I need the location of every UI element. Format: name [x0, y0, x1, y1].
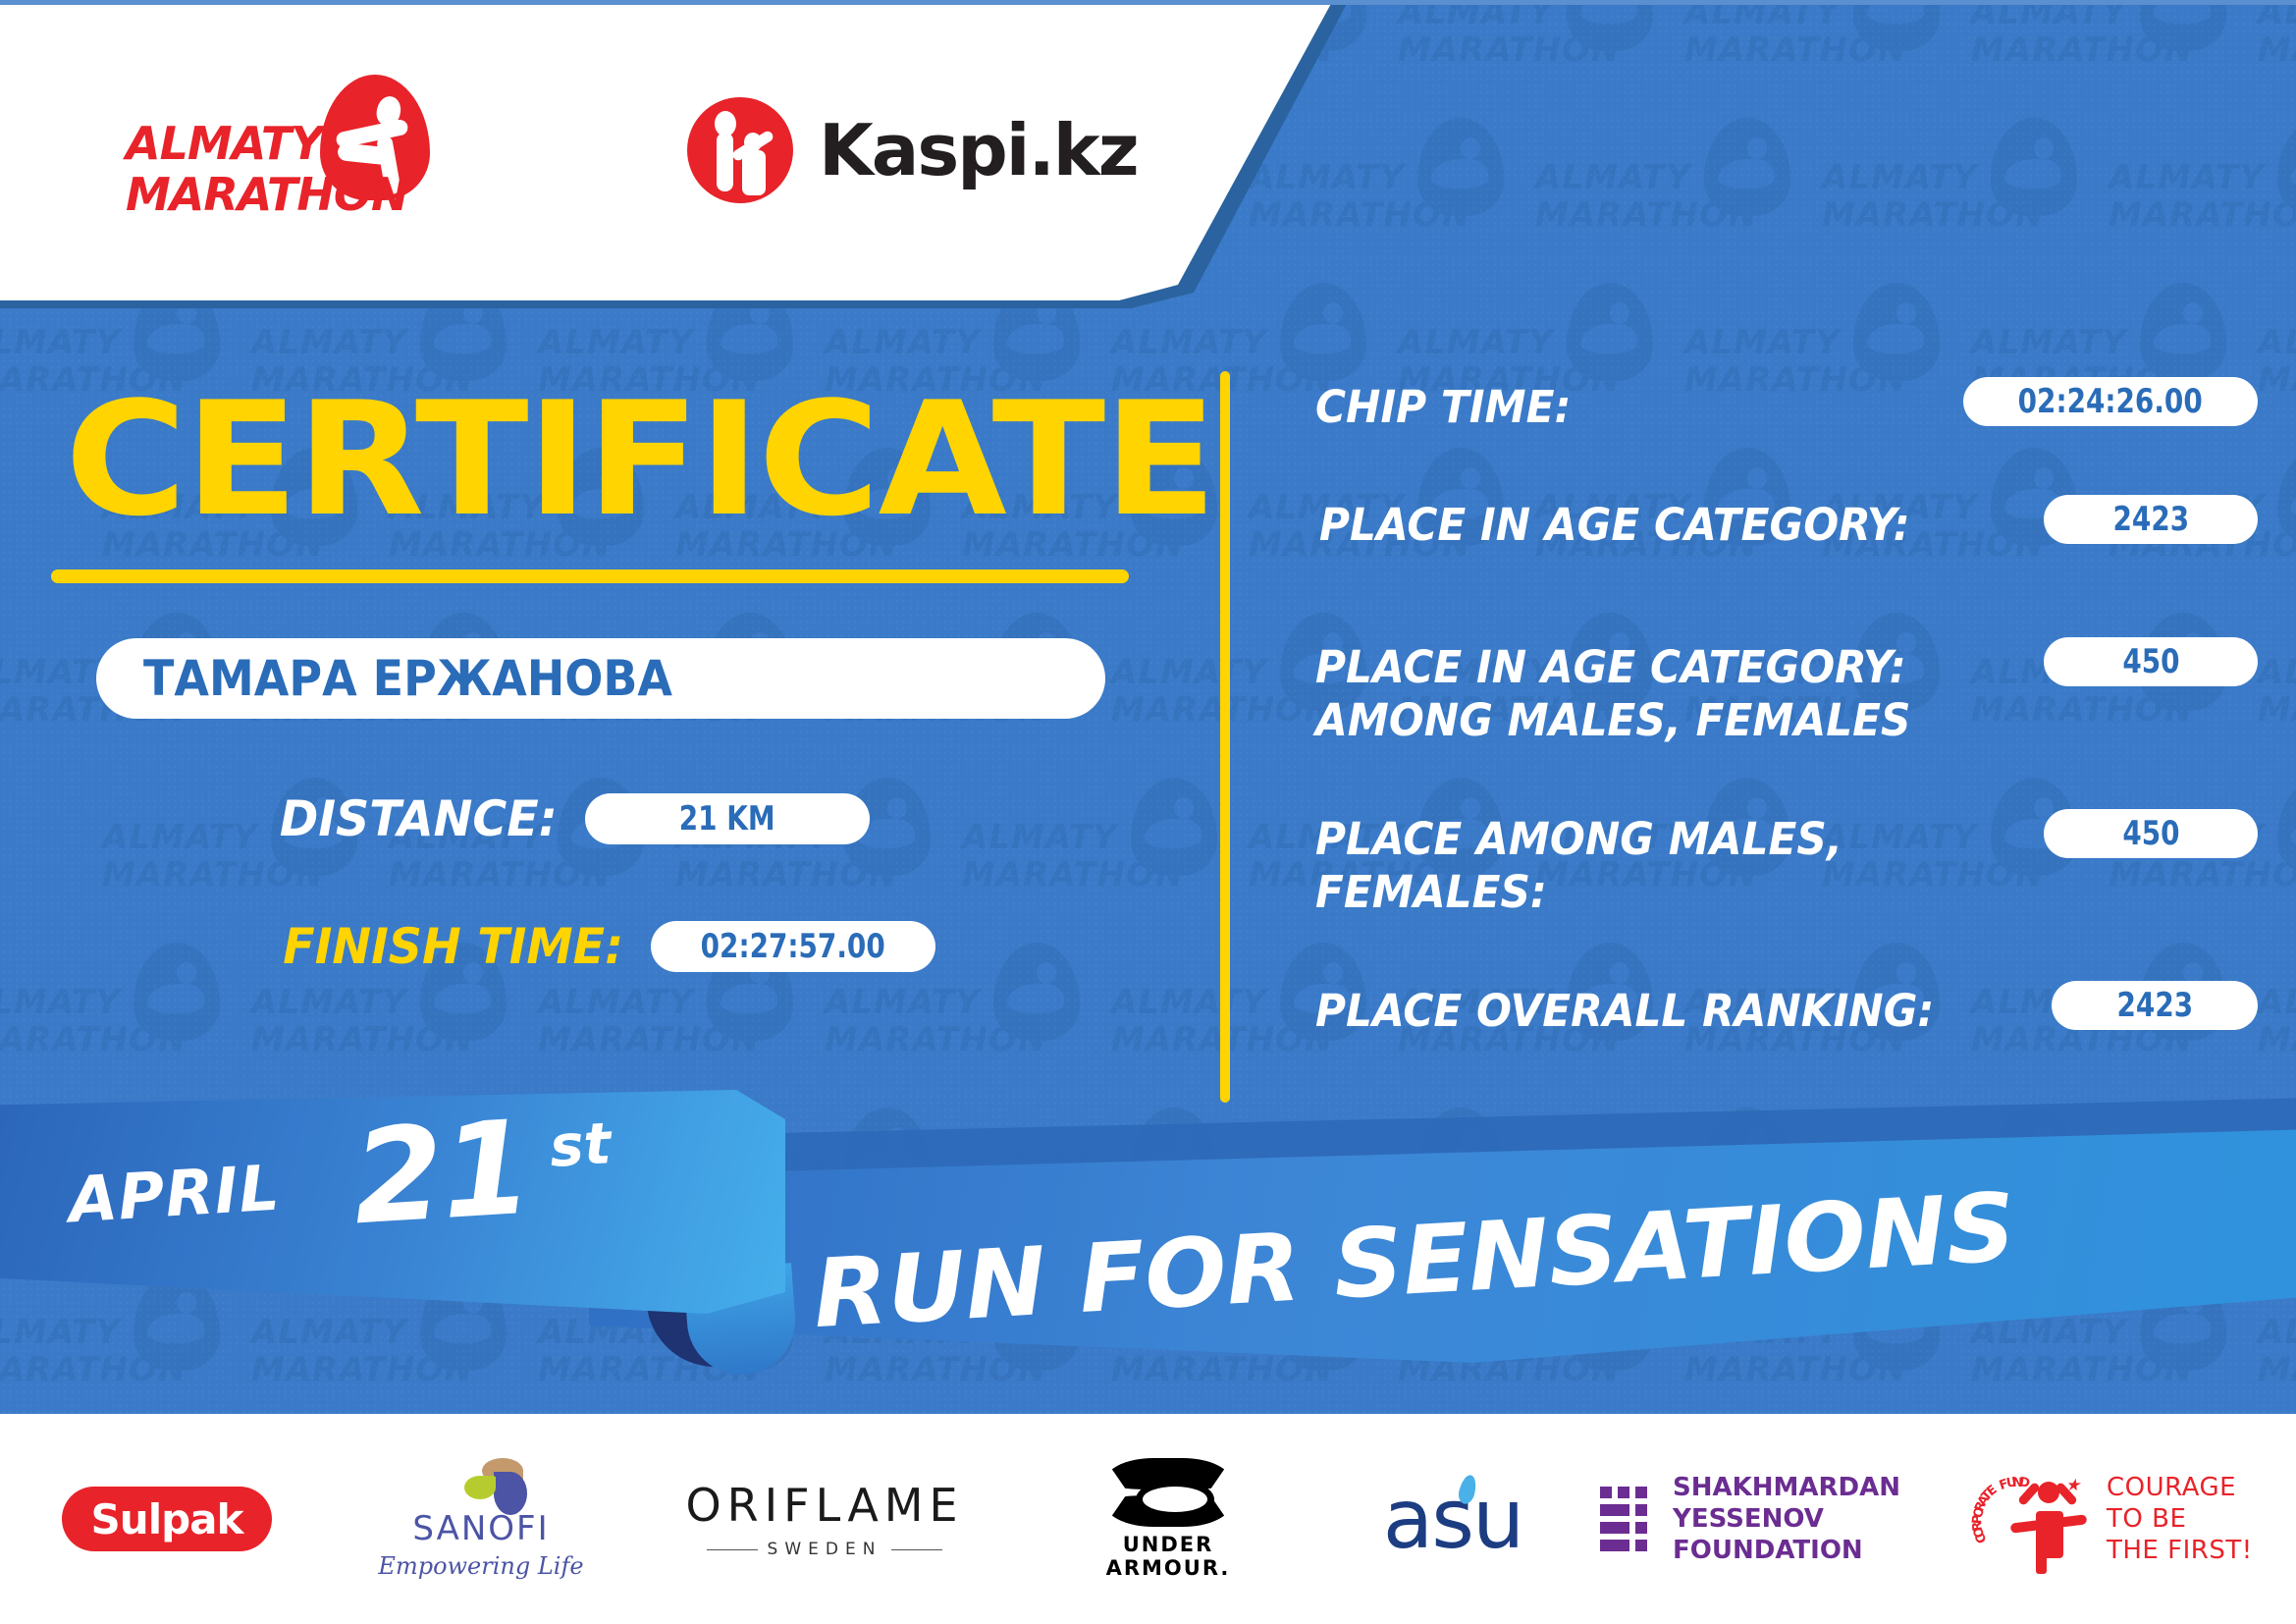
page-title: CERTIFICATE [65, 381, 1215, 538]
stat-row-place-among-males-females: PLACE AMONG MALES, FEMALES: 450 [1276, 803, 2258, 975]
yessenov-name: SHAKHMARDAN YESSENOV FOUNDATION [1673, 1472, 1973, 1566]
finish-time-value: 02:27:57.00 [701, 927, 885, 966]
certificate-page: ALMATY MARATHONALMATY MARATHONALMATY MAR… [0, 0, 2296, 1624]
sanofi-name: SANOFI [378, 1509, 584, 1548]
yessenov-logo: SHAKHMARDAN YESSENOV FOUNDATION [1600, 1472, 1973, 1566]
place-age-category-among-value: 450 [2122, 642, 2179, 681]
sponsor-oriflame: ORIFLAME SWEDEN [628, 1455, 1021, 1583]
kaspi-logo: Kaspi.kz [687, 96, 1138, 204]
sponsor-asu: asu [1315, 1455, 1590, 1583]
ribbon-day-suffix: st [548, 1110, 613, 1180]
participant-name-value: ТАМАРА ЕРЖАНОВА [143, 650, 672, 707]
header-top-rule [0, 0, 2296, 5]
almaty-marathon-logo-text: ALMATY MARATHON [126, 118, 407, 220]
oriflame-logo: ORIFLAME SWEDEN [682, 1479, 967, 1559]
sponsor-under-armour: UNDER ARMOUR. [1021, 1455, 1315, 1583]
place-among-males-females-value-pill: 450 [2044, 809, 2258, 858]
stat-row-place-age-category-among: PLACE IN AGE CATEGORY: AMONG MALES, FEMA… [1276, 631, 2258, 803]
place-age-category-value-pill: 2423 [2044, 495, 2258, 544]
stat-row-chip-time: CHIP TIME: 02:24:26.00 [1276, 371, 2258, 489]
sponsor-sulpak: Sulpak [0, 1455, 334, 1583]
sanofi-mark-icon [378, 1458, 584, 1507]
participant-name-field: ТАМАРА ЕРЖАНОВА [96, 638, 1105, 719]
asu-name: asu [1383, 1471, 1522, 1567]
distance-row: DISTANCE: 21 KM [265, 790, 870, 847]
place-age-category-among-value-pill: 450 [2044, 637, 2258, 686]
vertical-divider [1220, 371, 1230, 1103]
ribbon-month: APRIL [67, 1152, 282, 1237]
finish-time-value-pill: 02:27:57.00 [651, 921, 935, 972]
sponsor-courage-first: CORPORATE FUND ★ COURAGE TO BE THE FIRST… [1983, 1455, 2296, 1583]
oriflame-tagline: SWEDEN [768, 1540, 882, 1559]
distance-label: DISTANCE: [280, 790, 558, 847]
sanofi-logo: SANOFI Empowering Life [378, 1458, 584, 1580]
stat-row-place-overall: PLACE OVERALL RANKING: 2423 [1276, 975, 2258, 1093]
place-age-category-among-label: PLACE IN AGE CATEGORY: AMONG MALES, FEMA… [1315, 641, 1911, 747]
place-overall-value-pill: 2423 [2052, 981, 2258, 1030]
distance-value: 21 KM [679, 799, 775, 839]
under-armour-mark-icon [1104, 1458, 1232, 1527]
place-among-males-females-value: 450 [2122, 814, 2179, 853]
place-among-males-females-label: PLACE AMONG MALES, FEMALES: [1315, 813, 1842, 919]
sponsor-yessenov-foundation: SHAKHMARDAN YESSENOV FOUNDATION [1590, 1455, 1983, 1583]
place-overall-label: PLACE OVERALL RANKING: [1315, 985, 1934, 1038]
stats-panel: CHIP TIME: 02:24:26.00 PLACE IN AGE CATE… [1276, 371, 2258, 1093]
kaspi-logo-text: Kaspi.kz [819, 109, 1138, 191]
almaty-marathon-logo: ALMATY MARATHON [126, 77, 459, 234]
asu-logo: asu [1383, 1471, 1522, 1567]
ribbon-day: 21 [348, 1093, 534, 1255]
chip-time-value-pill: 02:24:26.00 [1963, 377, 2258, 426]
sulpak-logo: Sulpak [62, 1487, 272, 1551]
courage-name: COURAGE TO BE THE FIRST! [2107, 1472, 2253, 1566]
finish-time-row: FINISH TIME: 02:27:57.00 [265, 918, 935, 975]
oriflame-sweden-row: SWEDEN [682, 1540, 967, 1559]
ribbon-banner: APRIL 21 st RUN FOR SENSATIONS [0, 1090, 2296, 1434]
sponsor-sanofi: SANOFI Empowering Life [334, 1455, 628, 1583]
yessenov-mark-icon [1600, 1487, 1647, 1551]
sanofi-tagline: Empowering Life [378, 1552, 584, 1580]
kaspi-people-icon [687, 97, 793, 203]
courage-mark-icon: CORPORATE FUND ★ [1983, 1468, 2091, 1571]
chip-time-value: 02:24:26.00 [2018, 382, 2203, 421]
courage-logo: CORPORATE FUND ★ COURAGE TO BE THE FIRST… [1983, 1468, 2296, 1571]
place-overall-value: 2423 [2116, 986, 2193, 1025]
place-age-category-value: 2423 [2112, 500, 2189, 539]
stat-row-place-age-category: PLACE IN AGE CATEGORY: 2423 [1276, 489, 2258, 631]
title-underline [51, 569, 1129, 583]
finish-time-label: FINISH TIME: [283, 918, 623, 975]
distance-value-pill: 21 KM [585, 793, 870, 844]
chip-time-label: CHIP TIME: [1315, 381, 1571, 434]
under-armour-logo: UNDER ARMOUR. [1060, 1458, 1276, 1580]
under-armour-name: UNDER ARMOUR. [1060, 1533, 1276, 1580]
place-age-category-label: PLACE IN AGE CATEGORY: [1319, 499, 1910, 552]
oriflame-name: ORIFLAME [682, 1479, 967, 1532]
sponsor-bar: Sulpak SANOFI Empowering Life ORIFLAME S… [0, 1414, 2296, 1624]
